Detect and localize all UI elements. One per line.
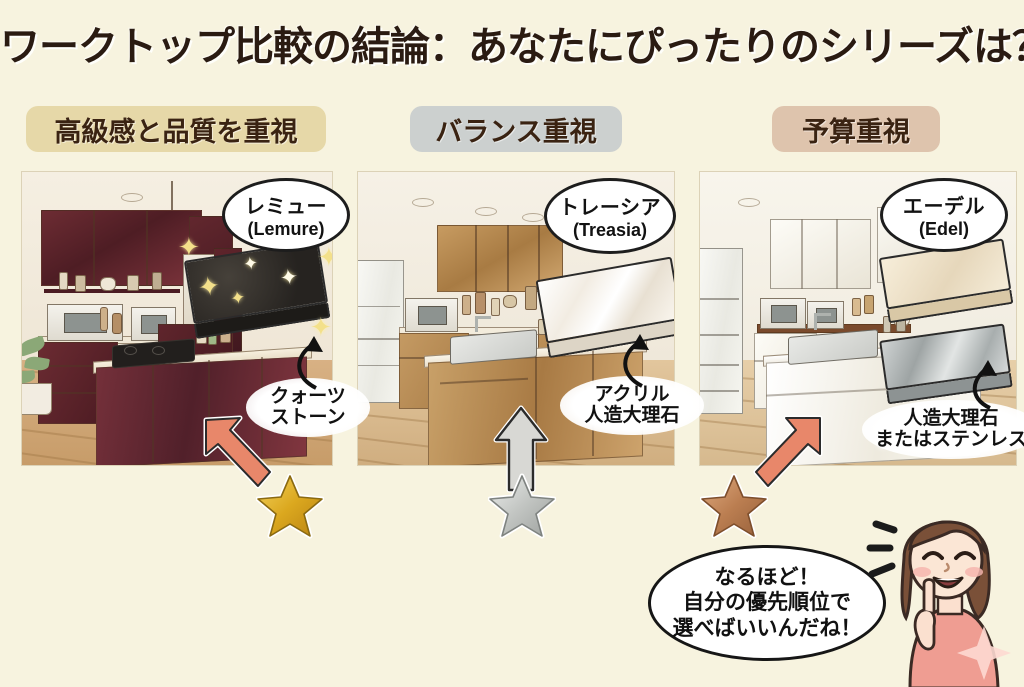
curved-arrow-acrylic xyxy=(612,334,660,390)
series-name-en-treasia: (Treasia) xyxy=(573,220,647,241)
emphasis-lines xyxy=(870,524,894,574)
curved-arrow-quartz xyxy=(286,336,334,392)
column-header-balanced: バランス重視 xyxy=(410,106,622,152)
pointing-hand-icon xyxy=(915,580,934,650)
series-name-treasia: トレーシア xyxy=(559,191,661,220)
series-name-en-lemure: (Lemure) xyxy=(247,219,324,240)
speech-line-1: なるほど！ xyxy=(715,565,820,591)
bronze-star-medal xyxy=(700,473,768,539)
series-name-edel: エーデル xyxy=(903,190,985,219)
character-illustration xyxy=(866,492,1024,687)
silver-star-medal xyxy=(488,473,556,539)
character-speech-bubble: なるほど！ 自分の優先順位で 選べばいいんだね！ xyxy=(648,545,886,661)
speech-line-3: 選べばいいんだね！ xyxy=(673,616,862,642)
column-header-premium: 高級感と品質を重視 xyxy=(26,106,326,152)
series-name-en-edel: (Edel) xyxy=(919,219,969,240)
series-bubble-edel: エーデル (Edel) xyxy=(880,178,1008,252)
series-bubble-lemure: レミュー (Lemure) xyxy=(222,178,350,252)
series-bubble-treasia: トレーシア (Treasia) xyxy=(544,178,676,254)
infographic-canvas: ワークトップ比較の結論：あなたにぴったりのシリーズは？ 高級感と品質を重視 バラ… xyxy=(0,0,1024,687)
speech-line-2: 自分の優先順位で xyxy=(683,590,851,616)
curved-arrow-budget xyxy=(962,360,1010,412)
column-header-budget: 予算重視 xyxy=(772,106,940,152)
material-line2-acrylic: 人造大理石 xyxy=(584,405,679,426)
material-line2-budget: またはステンレス xyxy=(875,429,1024,450)
series-name-lemure: レミュー xyxy=(245,190,327,219)
page-title: ワークトップ比較の結論：あなたにぴったりのシリーズは？ xyxy=(0,14,1024,72)
gold-star-medal xyxy=(256,473,324,539)
